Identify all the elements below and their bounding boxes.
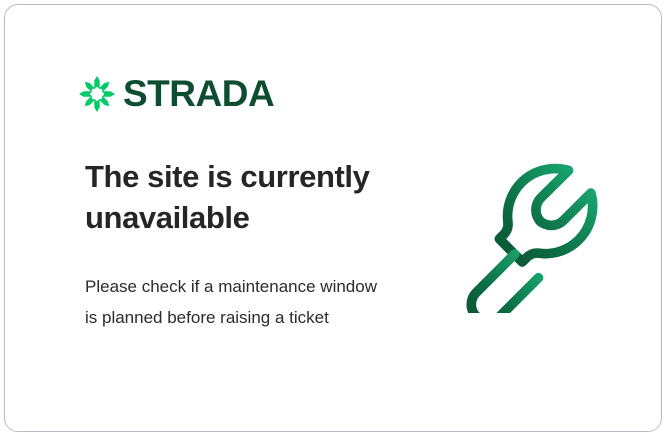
status-card: STRADA The site is currently unavailable… — [4, 4, 662, 432]
page-title: The site is currently unavailable — [85, 157, 415, 239]
card-inner: STRADA The site is currently unavailable… — [5, 5, 661, 431]
brand-wordmark: STRADA — [123, 75, 274, 112]
starburst-asterisk-icon — [79, 76, 115, 112]
page-root: STRADA The site is currently unavailable… — [0, 0, 666, 436]
page-description: Please check if a maintenance window is … — [85, 271, 385, 334]
brand-lockup: STRADA — [79, 75, 274, 112]
